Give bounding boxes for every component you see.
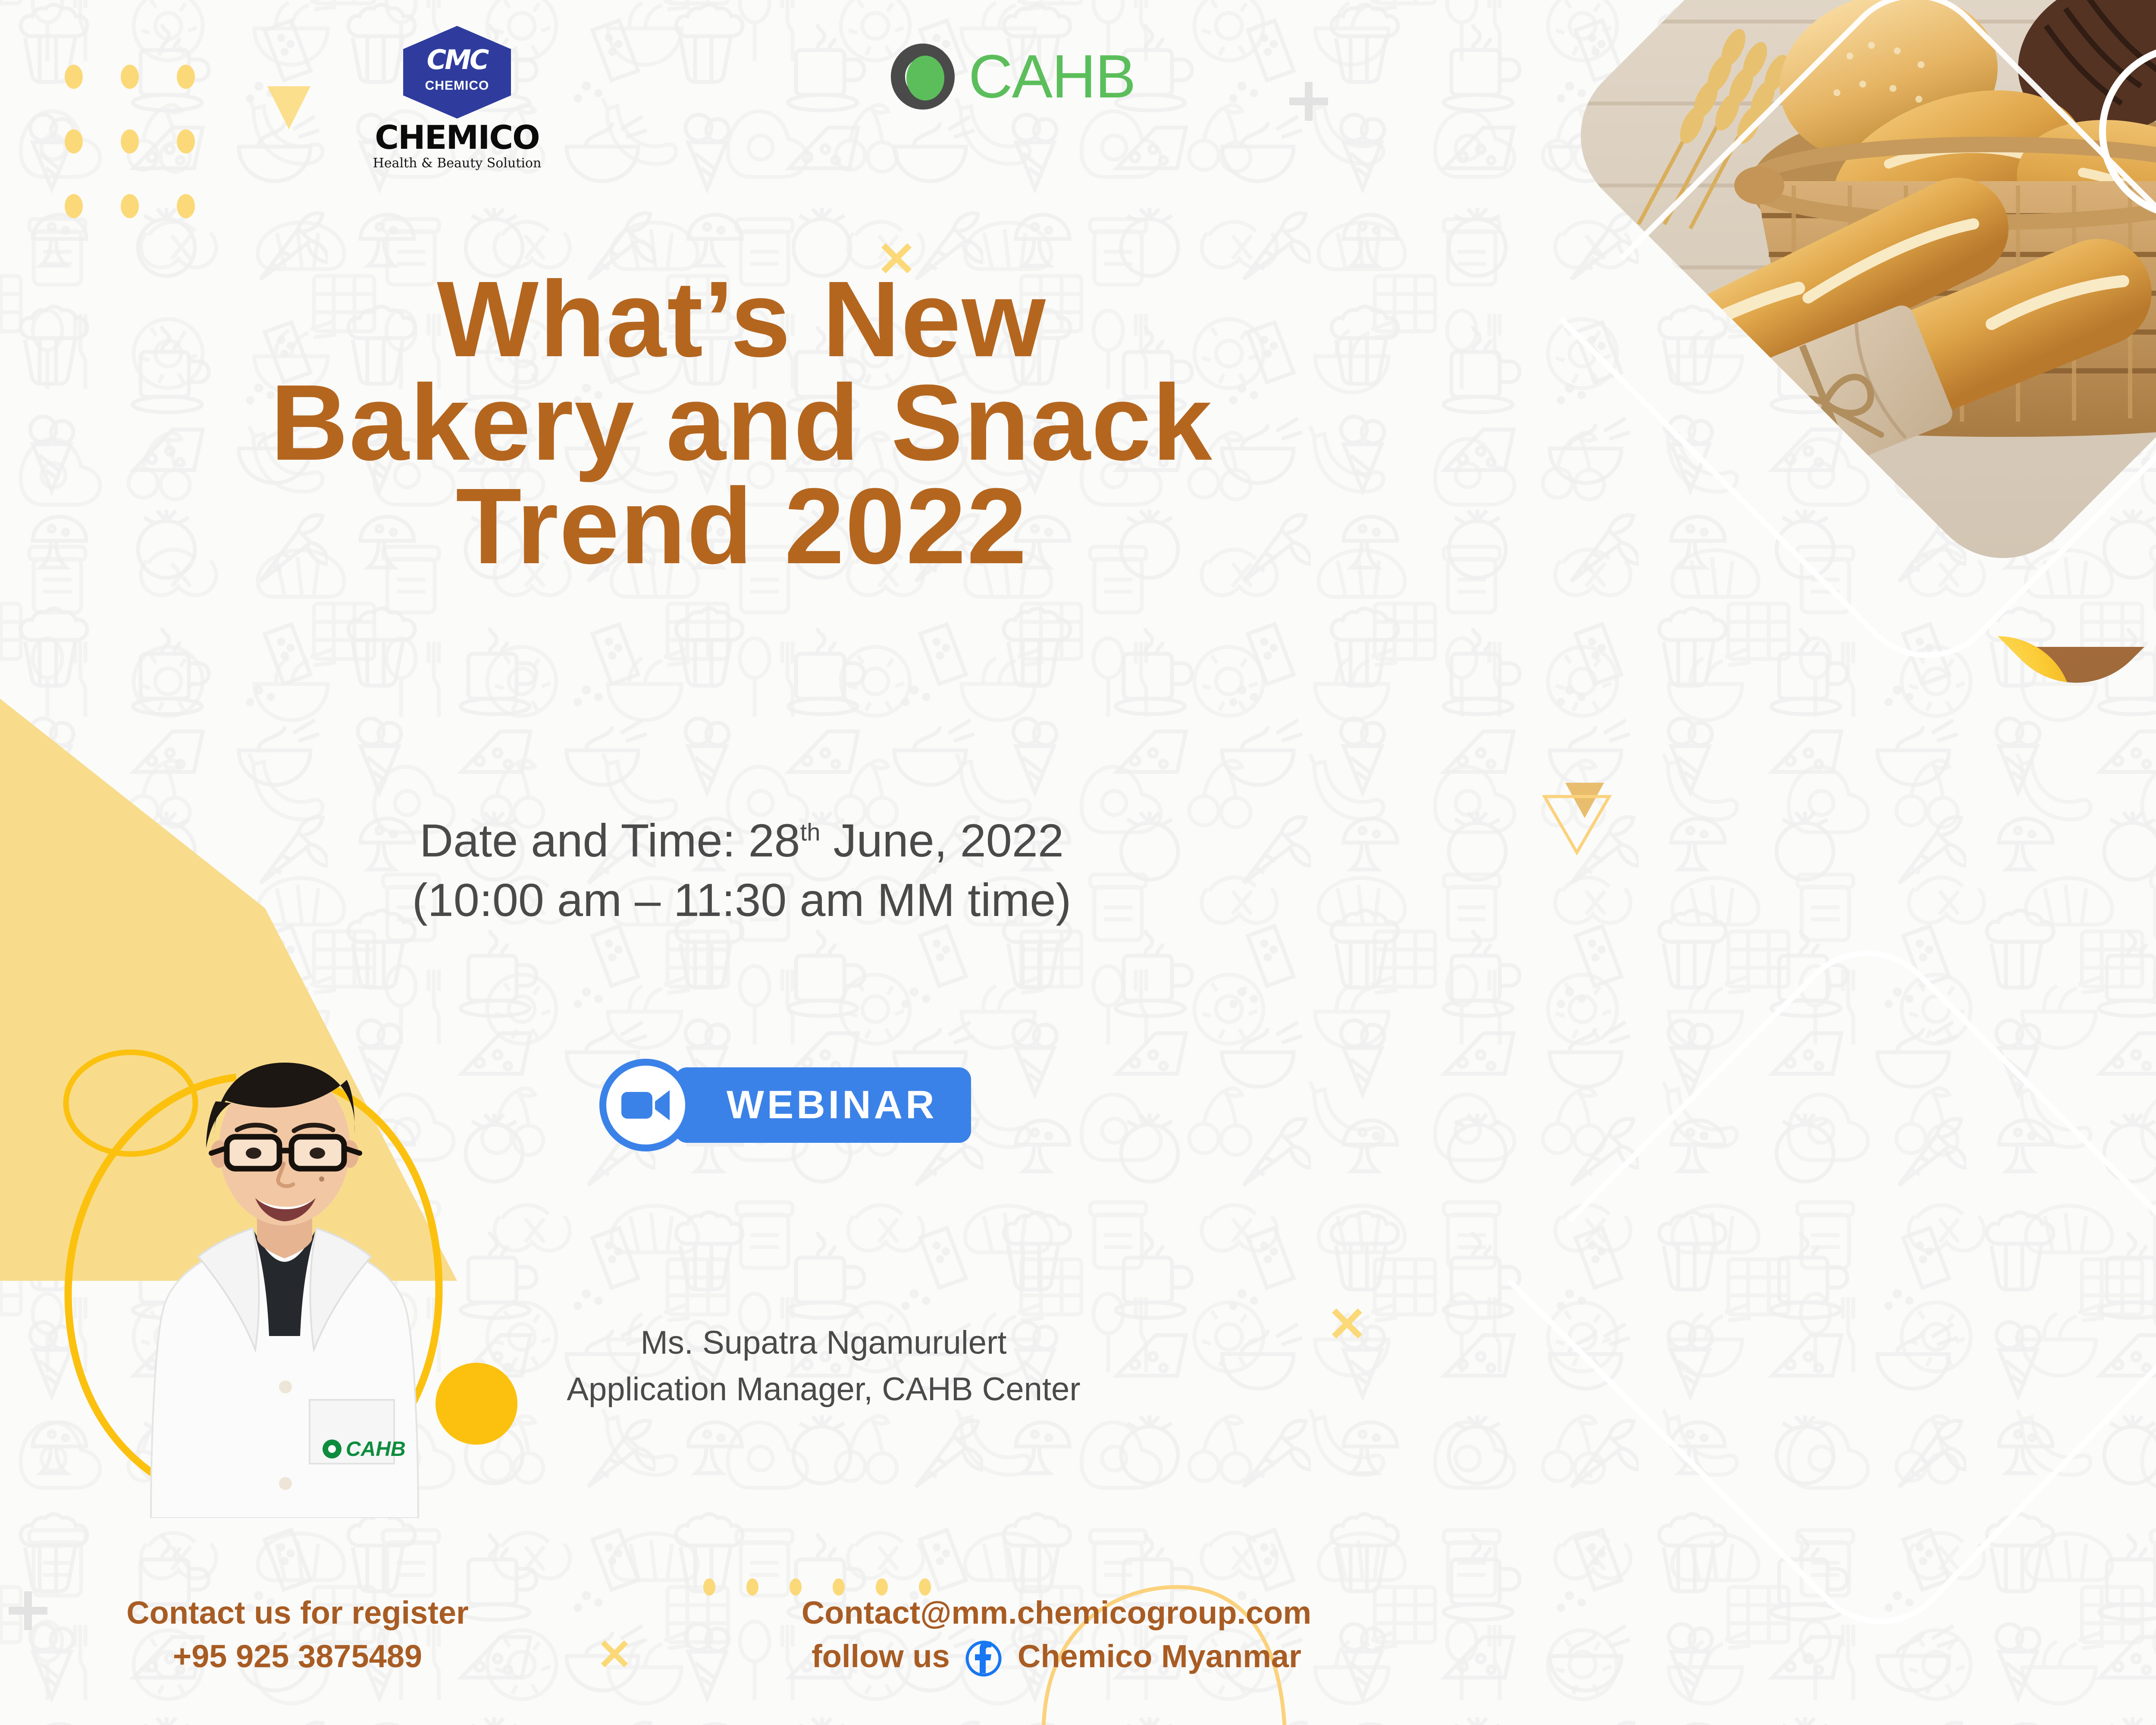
- speaker-photo: CAHB: [129, 1048, 440, 1518]
- poster-title: What’s New Bakery and Snack Trend 2022: [26, 267, 1457, 578]
- title-line-2: Bakery and Snack: [26, 371, 1457, 474]
- speaker-info: Ms. Supatra Ngamurulert Application Mana…: [457, 1320, 1190, 1413]
- webinar-label: WEBINAR: [727, 1082, 937, 1128]
- chemico-hexagon-icon: CMC CHEMICO: [403, 26, 511, 119]
- potato-chip-group: [1848, 860, 2156, 1725]
- webinar-pill[interactable]: WEBINAR: [675, 1067, 971, 1143]
- follow-line: follow us Chemico Myanmar: [673, 1635, 1440, 1678]
- chemico-wordmark: CHEMICO: [336, 121, 578, 154]
- footer-right: Contact@mm.chemicogroup.com follow us Ch…: [673, 1591, 1440, 1678]
- facebook-page-name[interactable]: Chemico Myanmar: [1018, 1638, 1301, 1674]
- date-line: Date and Time: 28th June, 2022: [26, 811, 1457, 870]
- chemico-logo: CMC CHEMICO CHEMICO Health & Beauty Solu…: [336, 26, 578, 171]
- date-day: 28: [748, 814, 800, 866]
- time-line: (10:00 am – 11:30 am MM time): [26, 870, 1457, 930]
- footer-contact: Contact us for register +95 925 3875489 …: [0, 1583, 1466, 1725]
- chemico-tagline: Health & Beauty Solution: [336, 156, 578, 171]
- bread-basket-photo: [1509, 0, 2156, 690]
- follow-label: follow us: [812, 1638, 950, 1674]
- date-month-year: June, 2022: [820, 814, 1063, 866]
- cahb-wordmark: CAHB: [968, 46, 1135, 107]
- date-label: Date and Time:: [420, 814, 748, 866]
- title-line-3: Trend 2022: [26, 474, 1457, 578]
- webinar-button[interactable]: WEBINAR: [599, 1059, 971, 1151]
- food-photo-collage: [1380, 0, 2156, 1725]
- logo-row: CMC CHEMICO CHEMICO Health & Beauty Solu…: [0, 26, 1466, 207]
- title-line-1: What’s New: [26, 267, 1457, 371]
- email-address[interactable]: Contact@mm.chemicogroup.com: [673, 1591, 1440, 1635]
- speaker-name: Ms. Supatra Ngamurulert: [457, 1320, 1190, 1366]
- register-label: Contact us for register: [43, 1591, 552, 1635]
- cahb-circle-icon: [888, 41, 957, 112]
- snacks-photo: [1475, 636, 2156, 1725]
- speaker-role: Application Manager, CAHB Center: [457, 1366, 1190, 1413]
- date-ordinal: th: [800, 819, 821, 846]
- footer-left: Contact us for register +95 925 3875489: [43, 1591, 552, 1678]
- x-mark-icon: [1330, 1307, 1364, 1340]
- phone-number[interactable]: +95 925 3875489: [43, 1635, 552, 1678]
- puffed-corn-group: [1475, 636, 2156, 1640]
- facebook-icon[interactable]: [965, 1640, 1003, 1678]
- chemico-monogram: CMC: [403, 44, 511, 75]
- svg-text:CAHB: CAHB: [346, 1438, 406, 1461]
- webinar-poster: CMC CHEMICO CHEMICO Health & Beauty Solu…: [0, 0, 2156, 1725]
- chemico-hexagon-label: CHEMICO: [403, 78, 511, 93]
- cahb-logo: CAHB: [888, 41, 1135, 112]
- video-camera-icon: [599, 1059, 692, 1151]
- date-time-block: Date and Time: 28th June, 2022 (10:00 am…: [26, 811, 1457, 930]
